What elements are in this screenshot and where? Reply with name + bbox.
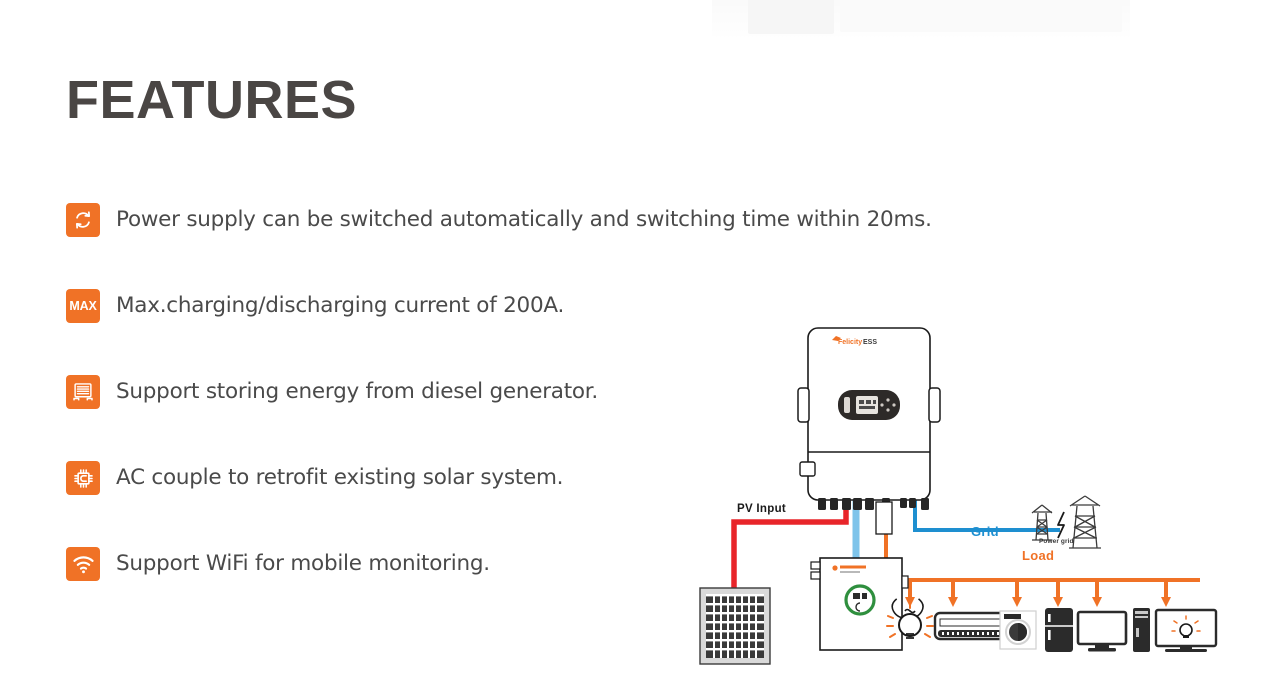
auto-switch-icon: [66, 203, 100, 237]
feature-item: Power supply can be switched automatical…: [66, 203, 1086, 289]
chip-icon: [66, 461, 100, 495]
monitor: [1078, 612, 1126, 652]
feature-text: Power supply can be switched automatical…: [116, 204, 932, 236]
max-icon-label: MAX: [69, 299, 96, 313]
television: [1156, 610, 1216, 652]
label-load: Load: [1022, 548, 1054, 563]
top-cropped-image: [712, 0, 1130, 38]
feature-text: AC couple to retrofit existing solar sys…: [116, 462, 563, 494]
feature-text: Support WiFi for mobile monitoring.: [116, 548, 490, 580]
feature-text: Support storing energy from diesel gener…: [116, 376, 598, 408]
label-grid: Grid: [971, 524, 999, 539]
label-power-grid: Power grid: [1039, 538, 1074, 545]
wifi-icon: [66, 547, 100, 581]
page-title: FEATURES: [66, 73, 357, 127]
max-icon: MAX: [66, 289, 100, 323]
system-diagram: Felicity ESS: [660, 300, 1260, 670]
solar-panel: [700, 588, 770, 664]
washing-machine: [1000, 611, 1036, 649]
label-pv-input: PV Input: [737, 503, 786, 515]
pc-tower: [1133, 608, 1150, 652]
ghost-block-left: [748, 0, 834, 34]
refrigerator: [1045, 608, 1073, 652]
svg-text:Felicity: Felicity: [838, 339, 862, 346]
svg-text:ESS: ESS: [863, 339, 877, 346]
features-page: FEATURES Power supply can be switched au…: [0, 0, 1270, 687]
generator-icon: [66, 375, 100, 409]
ghost-block-right: [840, 2, 1122, 32]
air-conditioner: [935, 613, 1009, 639]
feature-text: Max.charging/discharging current of 200A…: [116, 290, 564, 322]
inverter: Felicity ESS: [798, 328, 940, 534]
